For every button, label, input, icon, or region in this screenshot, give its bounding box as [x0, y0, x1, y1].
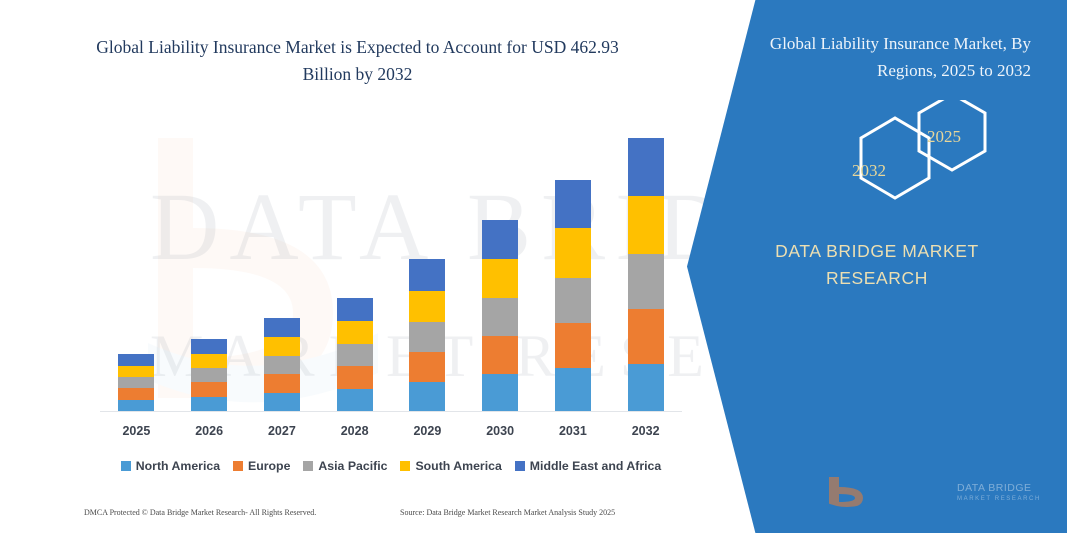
x-tick-label: 2032	[610, 424, 682, 446]
bar-column	[610, 120, 682, 412]
bar-segment	[409, 322, 445, 352]
bar-segment	[264, 337, 300, 356]
bar-segment	[191, 339, 227, 354]
legend-label: Europe	[248, 459, 290, 473]
legend-item[interactable]: Asia Pacific	[303, 459, 387, 473]
bar-column	[319, 120, 391, 412]
bar-column	[100, 120, 172, 412]
bar-segment	[118, 354, 154, 366]
bar-segment	[409, 382, 445, 412]
chart-plot-area	[100, 120, 682, 412]
bar-segment	[628, 196, 664, 254]
chart-title: Global Liability Insurance Market is Exp…	[70, 34, 645, 88]
legend-swatch-icon	[233, 461, 243, 471]
bar-segment	[628, 138, 664, 196]
bar-segment	[337, 389, 373, 412]
legend-item[interactable]: South America	[400, 459, 501, 473]
stacked-bar	[482, 220, 518, 412]
legend-label: North America	[136, 459, 220, 473]
bar-segment	[555, 180, 591, 228]
x-tick-label: 2031	[537, 424, 609, 446]
bar-segment	[628, 309, 664, 364]
bar-segment	[555, 228, 591, 278]
bar-segment	[264, 374, 300, 393]
bar-segment	[482, 220, 518, 259]
bar-segment	[482, 336, 518, 374]
brand-line1: DATA BRIDGE MARKET	[775, 241, 979, 261]
legend-swatch-icon	[400, 461, 410, 471]
bar-segment	[191, 368, 227, 382]
bar-segment	[264, 356, 300, 374]
hex-badge-2025: 2025	[927, 127, 961, 147]
bar-group	[100, 120, 682, 412]
bar-segment	[482, 374, 518, 412]
bar-segment	[482, 259, 518, 298]
bar-segment	[337, 366, 373, 389]
bar-segment	[555, 278, 591, 323]
stacked-bar	[409, 259, 445, 412]
legend-swatch-icon	[303, 461, 313, 471]
stacked-bar	[264, 318, 300, 412]
stacked-bar	[628, 138, 664, 412]
legend-item[interactable]: Middle East and Africa	[515, 459, 661, 473]
bar-column	[246, 120, 318, 412]
x-tick-label: 2026	[173, 424, 245, 446]
logo-line2: MARKET RESEARCH	[957, 496, 1049, 504]
bar-segment	[337, 344, 373, 366]
bar-segment	[409, 291, 445, 322]
footer-copyright: DMCA Protected © Data Bridge Market Rese…	[84, 508, 316, 517]
x-tick-label: 2029	[391, 424, 463, 446]
brand-name: DATA BRIDGE MARKET RESEARCH	[727, 238, 1027, 292]
bar-segment	[191, 354, 227, 368]
bar-segment	[191, 397, 227, 412]
stacked-bar	[118, 354, 154, 412]
legend-item[interactable]: North America	[121, 459, 220, 473]
bar-segment	[118, 366, 154, 377]
bar-column	[173, 120, 245, 412]
hexagon-outline-icon	[809, 100, 1009, 215]
x-tick-label: 2025	[100, 424, 172, 446]
bar-segment	[337, 321, 373, 344]
brand-line2: RESEARCH	[826, 268, 928, 288]
x-tick-label: 2027	[246, 424, 318, 446]
bar-segment	[264, 393, 300, 412]
bar-segment	[555, 368, 591, 412]
bar-column	[537, 120, 609, 412]
bar-column	[464, 120, 536, 412]
bar-segment	[555, 323, 591, 368]
bar-segment	[482, 298, 518, 336]
bar-segment	[337, 298, 373, 321]
stacked-bar	[191, 339, 227, 412]
x-tick-label: 2030	[464, 424, 536, 446]
bar-segment	[118, 388, 154, 400]
bar-column	[391, 120, 463, 412]
bar-segment	[264, 318, 300, 337]
chart-legend: North AmericaEuropeAsia PacificSouth Ame…	[100, 456, 682, 476]
bar-segment	[628, 364, 664, 412]
legend-swatch-icon	[515, 461, 525, 471]
x-tick-label: 2028	[319, 424, 391, 446]
legend-label: South America	[415, 459, 501, 473]
logo-line1: DATA BRIDGE	[957, 482, 1049, 495]
bar-segment	[191, 382, 227, 397]
bar-segment	[118, 377, 154, 388]
legend-label: Middle East and Africa	[530, 459, 661, 473]
hexagon-badges: 2025 2032	[809, 100, 1009, 215]
legend-label: Asia Pacific	[318, 459, 387, 473]
infographic-canvas: DATA BRIDGE MARKET RESEARCH Global Liabi…	[0, 0, 1067, 533]
x-axis-tick-labels: 20252026202720282029203020312032	[100, 424, 682, 446]
bar-segment	[628, 254, 664, 309]
bar-segment	[409, 352, 445, 382]
legend-item[interactable]: Europe	[233, 459, 290, 473]
footer-source: Source: Data Bridge Market Research Mark…	[400, 508, 615, 517]
stacked-bar	[337, 298, 373, 412]
x-axis-line	[100, 411, 682, 412]
stacked-bar	[555, 180, 591, 412]
dbmr-logo-text: DATA BRIDGE MARKET RESEARCH	[957, 482, 1049, 503]
legend-swatch-icon	[121, 461, 131, 471]
dbmr-logo-icon	[815, 473, 955, 513]
panel-title: Global Liability Insurance Market, By Re…	[741, 30, 1031, 84]
bar-segment	[409, 259, 445, 291]
hex-badge-2032: 2032	[852, 161, 886, 181]
